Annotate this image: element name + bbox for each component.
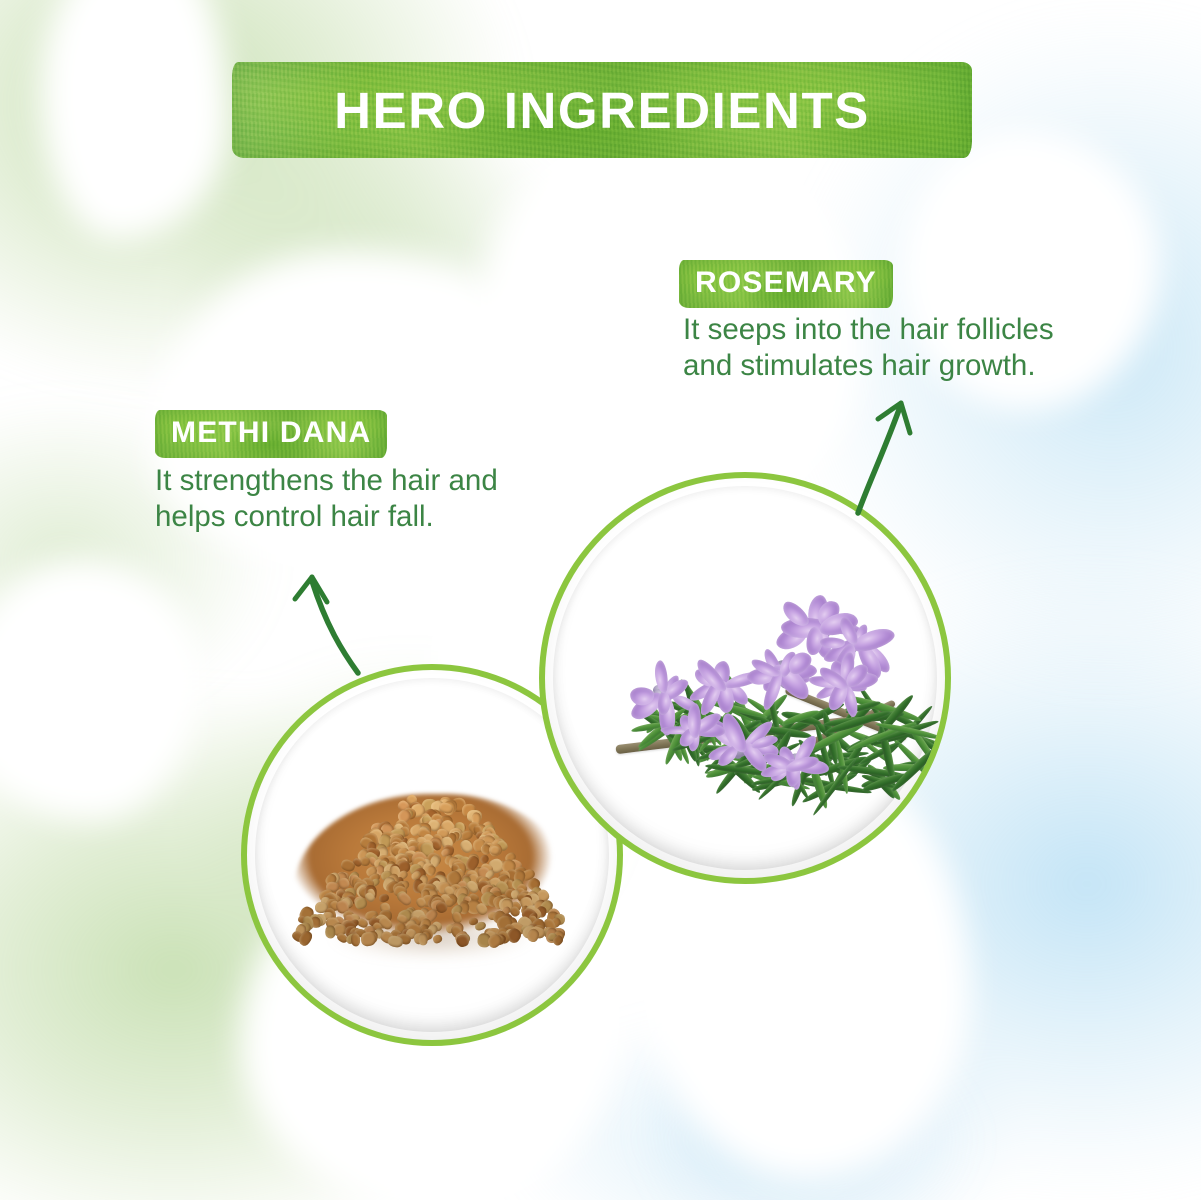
fenugreek-seed bbox=[418, 934, 427, 946]
fenugreek-seed bbox=[325, 926, 335, 939]
paper-blob bbox=[40, 0, 230, 240]
ingredient-image-rosemary bbox=[545, 478, 945, 878]
hero-ingredients-poster: HERO INGREDIENTS METHI DANA It strengthe… bbox=[0, 0, 1201, 1200]
ingredient-name-rosemary: ROSEMARY bbox=[695, 266, 877, 299]
rosemary-petal bbox=[630, 687, 654, 706]
ingredient-name-methi-dana: METHI DANA bbox=[171, 416, 371, 449]
rosemary-sprig-illustration bbox=[545, 478, 945, 878]
page-title: HERO INGREDIENTS bbox=[232, 62, 972, 158]
page-title-banner: HERO INGREDIENTS bbox=[232, 62, 972, 158]
ingredient-description-rosemary: It seeps into the hair follicles and sti… bbox=[683, 312, 1054, 384]
ingredient-badge-rosemary: ROSEMARY bbox=[679, 260, 893, 308]
ingredient-description-methi-dana: It strengthens the hair and helps contro… bbox=[155, 463, 498, 535]
ingredient-badge-methi-dana: METHI DANA bbox=[155, 410, 387, 458]
paper-blob bbox=[0, 560, 200, 820]
fenugreek-seed bbox=[351, 933, 361, 946]
fenugreek-seeds-illustration bbox=[282, 780, 582, 960]
